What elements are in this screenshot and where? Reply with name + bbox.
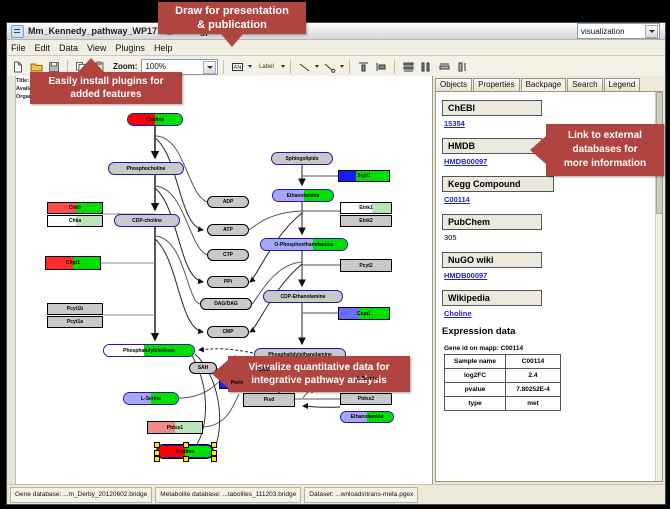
callout-plugins-arrow: [78, 58, 104, 72]
menu-item-help[interactable]: Help: [154, 43, 173, 53]
table-row: log2FC2.4: [445, 369, 561, 383]
hmdb-heading: HMDB: [442, 138, 542, 154]
node-label: Pcyt1b: [67, 306, 83, 312]
line-icon[interactable]: [296, 59, 312, 75]
node-label: Phosphocholine: [127, 166, 166, 172]
selection-handle[interactable]: [211, 442, 217, 448]
table-row: pvalue7.80252E-4: [445, 383, 561, 397]
metabolite-node-phosphocholine[interactable]: Phosphocholine: [108, 162, 184, 175]
node-fill-left: [339, 171, 356, 181]
expression-row-value: 2.4: [506, 369, 561, 383]
label-icon[interactable]: Label: [254, 59, 278, 75]
toolbar-separator: [223, 60, 224, 74]
visualization-combobox[interactable]: visualization: [577, 23, 660, 39]
align-left-icon[interactable]: [373, 59, 389, 75]
node-label: DAG/DAG: [214, 301, 238, 307]
wikipedia-heading: Wikipedia: [442, 290, 542, 306]
node-label: Pemt: [231, 380, 243, 386]
expression-row-value: met: [506, 397, 561, 411]
screenshot-root: Mm_Kennedy_pathway_WP1771_45176.gpml Fil…: [0, 0, 670, 509]
metabolite-node-ethanolamine-top[interactable]: Ethanolamine: [272, 189, 334, 202]
section-pubchem: PubChem 305: [442, 212, 656, 242]
toolbar-separator: [394, 60, 395, 74]
gene-node-ptdss1[interactable]: Ptdss1: [147, 421, 203, 434]
gene-node-pcyt2[interactable]: Pcyt2: [340, 259, 392, 272]
callout-visualize-line1: Visualize quantitative data for: [249, 361, 390, 374]
chevron-down-icon[interactable]: [203, 61, 216, 74]
align-top-icon[interactable]: [355, 59, 371, 75]
node-label: Cept1: [357, 311, 371, 317]
callout-draw-line2: & publication: [197, 18, 267, 32]
callout-plugins-line1: Easily install plugins for: [48, 75, 163, 88]
node-label: Pcyt2: [359, 263, 372, 269]
selection-handle[interactable]: [211, 456, 217, 462]
node-label: ATP: [223, 227, 233, 233]
node-label: CDP-Ethanolamine: [280, 294, 325, 300]
node-label: SAH: [198, 365, 209, 371]
tab-search[interactable]: Search: [567, 78, 602, 91]
callout-links: Link to external databases for more info…: [546, 124, 664, 176]
selection-handle[interactable]: [154, 442, 160, 448]
distribute-vertical-icon[interactable]: [400, 59, 416, 75]
tab-objects[interactable]: Objects: [435, 78, 472, 91]
metabolite-node-sphingolipids[interactable]: Sphingolipids: [271, 152, 333, 165]
chevron-down-icon[interactable]: [248, 65, 252, 68]
chevron-down-icon[interactable]: [315, 65, 319, 68]
menu-item-view[interactable]: View: [87, 43, 106, 53]
gene-node-chkb[interactable]: Chkb: [47, 202, 103, 214]
menu-item-edit[interactable]: Edit: [35, 43, 51, 53]
cofactor-node-cmp[interactable]: CMP: [207, 326, 249, 338]
toolbar-separator: [349, 60, 350, 74]
status-metabolite-database: Metabolite database: ...tabolites_111203…: [155, 487, 301, 503]
callout-links-line2: databases for: [572, 143, 637, 157]
callout-draw: Draw for presentation & publication: [158, 2, 306, 34]
selection-handle[interactable]: [183, 442, 189, 448]
callout-plugins-line2: added features: [70, 88, 141, 101]
expression-data-table: Sample nameC00114log2FC2.4pvalue7.80252E…: [444, 354, 561, 411]
cofactor-node-ctp[interactable]: CTP: [207, 249, 249, 261]
expression-data-title: Expression data: [442, 326, 656, 337]
metabolite-node-l-serine-left[interactable]: L-Serine: [123, 392, 179, 405]
node-label: Chka: [69, 218, 81, 224]
expression-row-value: 7.80252E-4: [506, 383, 561, 397]
callout-plugins: Easily install plugins for added feature…: [30, 72, 182, 104]
callout-links-line3: more information: [564, 157, 646, 171]
selection-handle[interactable]: [183, 456, 189, 462]
cofactor-node-dagdag[interactable]: DAG/DAG: [200, 298, 252, 310]
node-fill-left: [339, 308, 359, 319]
tab-legend[interactable]: Legend: [604, 78, 641, 91]
node-label: Etnk2: [359, 218, 373, 224]
node-label: Chkb: [69, 205, 82, 211]
toolbar-separator: [290, 60, 291, 74]
callout-links-arrow: [530, 136, 546, 164]
metabolite-node-ethanolamine-bottom[interactable]: Ethanolamine: [340, 411, 394, 423]
nugo-wiki-link[interactable]: HMDB00097: [444, 271, 656, 280]
gene-id-line: Gene id on mapp: C00114: [444, 345, 656, 352]
gene-node-etnk2[interactable]: Etnk2: [340, 215, 392, 227]
node-label: PPi: [224, 279, 232, 285]
expression-row-key: type: [445, 397, 506, 411]
gene-node-pisd[interactable]: Pisd: [243, 393, 295, 407]
status-gene-database: Gene database: ...m_Derby_20120602.bridg…: [10, 487, 152, 503]
section-wikipedia: Wikipedia Choline: [442, 288, 656, 318]
gene-node-pcyt1a[interactable]: Pcyt1a: [47, 316, 103, 328]
node-label: O-Phosphoethanolamine: [274, 242, 333, 248]
expression-row-key: log2FC: [445, 369, 506, 383]
metabolite-node-phosphatidylcholines[interactable]: Phosphatidylcholines: [103, 344, 195, 357]
gene-node-etnk1[interactable]: Etnk1: [340, 202, 392, 214]
gene-node-chka[interactable]: Chka: [47, 215, 103, 227]
same-height-icon[interactable]: [454, 59, 470, 75]
menu-bar: File Edit Data View Plugins Help: [7, 40, 665, 56]
expression-row-key: Sample name: [445, 355, 506, 369]
zoom-value: 100%: [145, 62, 165, 71]
interaction-icon[interactable]: [321, 59, 337, 75]
menu-item-plugins[interactable]: Plugins: [115, 43, 145, 53]
node-label: Ethanolamine: [287, 193, 320, 199]
node-label: Pcyt1a: [67, 319, 83, 325]
pubchem-heading: PubChem: [442, 214, 542, 230]
visualization-value: visualization: [581, 27, 625, 36]
same-width-icon[interactable]: [436, 59, 452, 75]
zoom-label: Zoom:: [113, 62, 137, 71]
new-file-icon[interactable]: [10, 59, 26, 75]
section-nugo: NuGO wiki HMDB00097: [442, 250, 656, 280]
metabolite-node-cdp-choline[interactable]: CDP-choline: [114, 214, 180, 227]
node-fill-right: [372, 203, 391, 213]
section-kegg: Kegg Compound C00114: [442, 174, 656, 204]
node-label: Ptdss1: [167, 425, 183, 431]
callout-draw-line1: Draw for presentation: [175, 4, 289, 18]
title-bar: Mm_Kennedy_pathway_WP1771_45176.gpml: [7, 23, 665, 40]
wikipedia-link[interactable]: Choline: [444, 309, 656, 318]
node-label: Phosphatidylethanolamine: [268, 352, 332, 358]
node-label: CDP-choline: [132, 218, 162, 224]
pathvisio-icon: [11, 25, 24, 38]
metabolite-node-cdp-ethanolamine[interactable]: CDP-Ethanolamine: [263, 290, 343, 303]
table-row: Sample nameC00114: [445, 355, 561, 369]
table-row: typemet: [445, 397, 561, 411]
kegg-compound-heading: Kegg Compound: [442, 176, 554, 192]
node-label: L-Serine: [141, 396, 161, 402]
chevron-down-icon[interactable]: [340, 65, 344, 68]
kegg-compound-link[interactable]: C00114: [444, 195, 656, 204]
callout-visualize: Visualize quantitative data for integrat…: [228, 356, 410, 392]
selection-handle[interactable]: [211, 450, 217, 456]
node-label: Sphingolipids: [285, 156, 318, 162]
expression-row-value: C00114: [506, 355, 561, 369]
node-label: CMP: [222, 329, 233, 335]
menu-item-data[interactable]: Data: [59, 43, 78, 53]
pubchem-value: 305: [444, 233, 656, 242]
node-label: Chpt1: [66, 260, 80, 266]
node-label: Sgpl1: [357, 173, 371, 179]
selection-handle[interactable]: [154, 450, 160, 456]
node-label: Pisd: [264, 397, 275, 403]
node-label: Ethanolamine: [351, 414, 384, 420]
callout-visualize-arrow: [212, 360, 228, 388]
status-dataset: Dataset: ...wnloads\trans-meta.pgex: [304, 487, 418, 503]
gene-node-sgpl1[interactable]: Sgpl1: [338, 170, 390, 182]
node-label: SAM: [258, 367, 269, 373]
node-label: Ptdss2: [358, 396, 374, 402]
expression-row-key: pvalue: [445, 383, 506, 397]
node-label: L-Serine: [357, 376, 377, 382]
distribute-horizontal-icon[interactable]: [418, 59, 434, 75]
canvas-left-gutter: [7, 76, 16, 484]
gene-node-chpt1[interactable]: Chpt1: [45, 256, 101, 270]
gene-node-ptdss2[interactable]: Ptdss2: [340, 393, 392, 405]
gene-node-pcyt1b[interactable]: Pcyt1b: [47, 303, 103, 315]
side-panel-tabs: Objects Properties Backpage Search Legen…: [435, 77, 663, 92]
cofactor-node-ppi[interactable]: PPi: [207, 276, 249, 288]
nugo-wiki-heading: NuGO wiki: [442, 252, 542, 268]
cofactor-node-adp[interactable]: ADP: [207, 196, 249, 208]
label-icon-text: Label: [259, 64, 274, 70]
chevron-down-icon[interactable]: [281, 65, 285, 68]
gene-node-cept1[interactable]: Cept1: [338, 307, 390, 320]
cofactor-node-atp[interactable]: ATP: [207, 224, 249, 236]
chevron-down-icon[interactable]: [645, 25, 658, 38]
node-label: Phosphatidylcholines: [123, 348, 175, 354]
callout-draw-arrow: [221, 34, 243, 47]
tab-backpage[interactable]: Backpage: [521, 78, 567, 92]
node-label: ADP: [223, 199, 234, 205]
metabolite-node-choline-top[interactable]: Choline: [127, 113, 183, 126]
chebi-heading: ChEBI: [442, 100, 542, 116]
pathway-canvas[interactable]: Title: Availa Organi: [7, 76, 433, 484]
menu-item-file[interactable]: File: [11, 43, 26, 53]
callout-links-line1: Link to external: [568, 129, 642, 143]
datanode-icon[interactable]: AN: [229, 59, 245, 75]
selection-handle[interactable]: [154, 456, 160, 462]
status-bar: Gene database: ...m_Derby_20120602.bridg…: [7, 484, 665, 504]
node-label: Etnk1: [359, 205, 373, 211]
metabolite-node-o-phosphoethanolamine[interactable]: O-Phosphoethanolamine: [260, 238, 348, 251]
node-label: Choline: [176, 449, 194, 455]
tab-properties[interactable]: Properties: [473, 78, 519, 91]
svg-text:AN: AN: [233, 65, 241, 71]
node-label: Choline: [146, 117, 164, 123]
node-label: CTP: [223, 252, 233, 258]
